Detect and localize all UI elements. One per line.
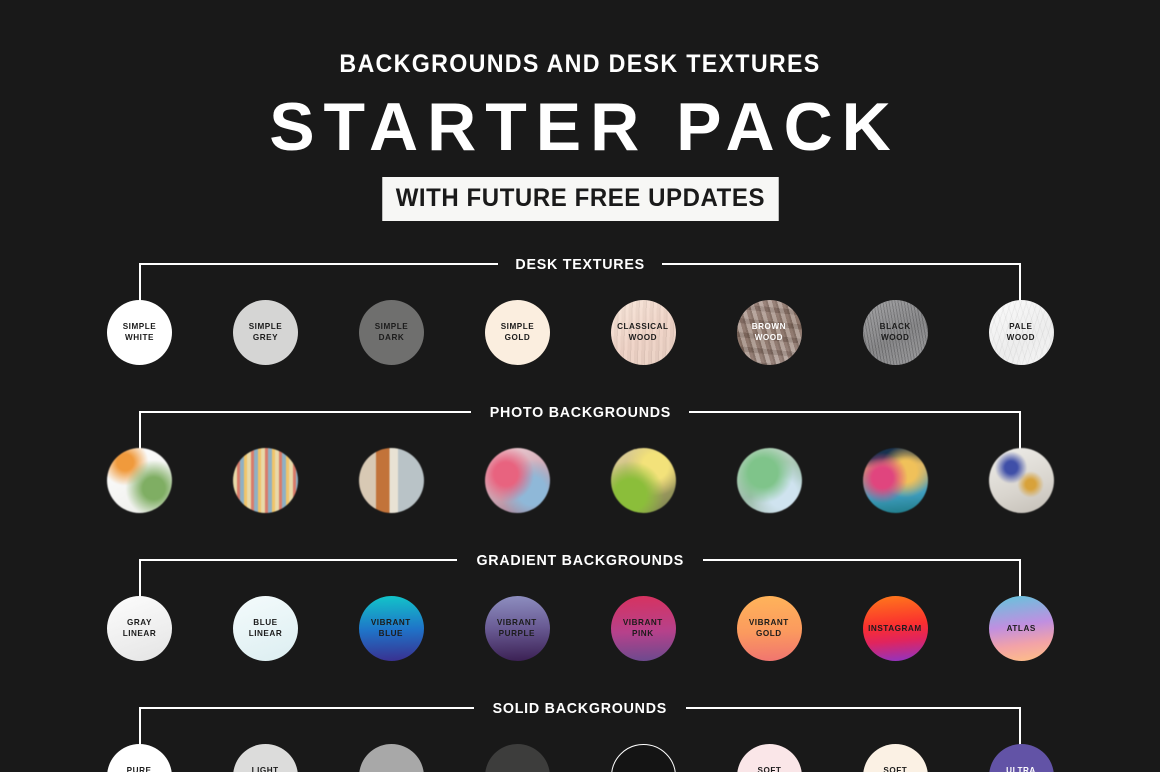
swatch-photo-7[interactable] xyxy=(863,448,928,513)
swatch-vibrant-gold[interactable]: VIBRANT GOLD xyxy=(737,596,802,661)
swatch-pale-wood[interactable]: PALE WOOD xyxy=(989,300,1054,365)
swatch-row: GRAY LINEARBLUE LINEARVIBRANT BLUEVIBRAN… xyxy=(0,595,1160,661)
swatch-cell: BLUE LINEAR xyxy=(202,595,328,661)
swatch-label: SOFT PINK xyxy=(757,765,781,772)
swatch-brown-wood[interactable]: BROWN WOOD xyxy=(737,300,802,365)
swatch-cell xyxy=(706,447,832,513)
swatch-cell xyxy=(958,447,1084,513)
swatch-cell: BLACK WOOD xyxy=(832,299,958,365)
swatch-label: BLACK WOOD xyxy=(879,321,910,342)
section-rule: DESK TEXTURES xyxy=(0,255,1160,273)
swatch-cell: LIGHT GRAY xyxy=(202,743,328,772)
section-label: GRADIENT BACKGROUNDS xyxy=(476,553,684,568)
swatch-cell xyxy=(580,447,706,513)
connector-line-left xyxy=(139,411,471,413)
swatch-vibrant-purple[interactable]: VIBRANT PURPLE xyxy=(485,596,550,661)
swatch-cell: ATLAS xyxy=(958,595,1084,661)
swatch-cell: PALE WOOD xyxy=(958,299,1084,365)
section-photo-backgrounds: PHOTO BACKGROUNDS xyxy=(0,403,1160,513)
connector-line-right xyxy=(703,559,1021,561)
swatch-dark[interactable]: DARK xyxy=(485,744,550,772)
section-label: DESK TEXTURES xyxy=(515,257,644,272)
connector-line-right xyxy=(689,411,1021,413)
swatch-label: PURE WHITE xyxy=(125,765,154,772)
swatch-cell: SIMPLE WHITE xyxy=(76,299,202,365)
swatch-cell: VIBRANT PINK xyxy=(580,595,706,661)
swatch-label: BROWN WOOD xyxy=(752,321,786,342)
swatch-grey[interactable]: GREY xyxy=(359,744,424,772)
swatch-photo-4[interactable] xyxy=(485,448,550,513)
swatch-cell: BROWN WOOD xyxy=(706,299,832,365)
swatch-cell: VIBRANT PURPLE xyxy=(454,595,580,661)
swatch-black[interactable]: BLACK xyxy=(611,744,676,772)
swatch-soft-pink[interactable]: SOFT PINK xyxy=(737,744,802,772)
swatch-cell: DARK xyxy=(454,743,580,772)
badge-wrapper: WITH FUTURE FREE UPDATES xyxy=(0,177,1160,221)
swatch-label: VIBRANT GOLD xyxy=(749,617,789,638)
swatch-label: BLUE LINEAR xyxy=(248,617,282,638)
swatch-photo-2[interactable] xyxy=(233,448,298,513)
swatch-light-gray[interactable]: LIGHT GRAY xyxy=(233,744,298,772)
connector-line-left xyxy=(139,559,457,561)
swatch-cell: GRAY LINEAR xyxy=(76,595,202,661)
section-label: PHOTO BACKGROUNDS xyxy=(489,405,670,420)
swatch-simple-dark[interactable]: SIMPLE DARK xyxy=(359,300,424,365)
swatch-label: VIBRANT BLUE xyxy=(371,617,411,638)
swatch-simple-gold[interactable]: SIMPLE GOLD xyxy=(485,300,550,365)
swatch-label: GRAY LINEAR xyxy=(122,617,156,638)
swatch-soft-gold[interactable]: SOFT GOLD xyxy=(863,744,928,772)
swatch-cell: INSTAGRAM xyxy=(832,595,958,661)
section-solid-backgrounds: SOLID BACKGROUNDSPURE WHITELIGHT GRAYGRE… xyxy=(0,699,1160,772)
connector-line-left xyxy=(139,263,498,265)
swatch-photo-8[interactable] xyxy=(989,448,1054,513)
swatch-label: SIMPLE DARK xyxy=(374,321,408,342)
eyebrow-text: BACKGROUNDS AND DESK TEXTURES xyxy=(41,52,1120,77)
swatch-label: ULTRA VIOLET xyxy=(1005,765,1038,772)
sections-container: DESK TEXTURESSIMPLE WHITESIMPLE GREYSIMP… xyxy=(0,255,1160,772)
page-title: STARTER PACK xyxy=(0,93,1160,161)
connector-line-left xyxy=(139,707,474,709)
swatch-cell: PURE WHITE xyxy=(76,743,202,772)
swatch-row: PURE WHITELIGHT GRAYGREYDARKBLACKSOFT PI… xyxy=(0,743,1160,772)
swatch-label: SOFT GOLD xyxy=(882,765,908,772)
swatch-ultra-violet[interactable]: ULTRA VIOLET xyxy=(989,744,1054,772)
swatch-cell: ULTRA VIOLET xyxy=(958,743,1084,772)
swatch-cell: SOFT GOLD xyxy=(832,743,958,772)
section-rule: GRADIENT BACKGROUNDS xyxy=(0,551,1160,569)
swatch-cell xyxy=(454,447,580,513)
swatch-photo-3[interactable] xyxy=(359,448,424,513)
swatch-label: LIGHT GRAY xyxy=(251,765,278,772)
swatch-cell: SOFT PINK xyxy=(706,743,832,772)
swatch-cell: SIMPLE GOLD xyxy=(454,299,580,365)
connector-line-right xyxy=(662,263,1021,265)
updates-badge: WITH FUTURE FREE UPDATES xyxy=(382,177,778,221)
swatch-label: VIBRANT PINK xyxy=(623,617,663,638)
swatch-photo-1[interactable] xyxy=(107,448,172,513)
swatch-label: SIMPLE GOLD xyxy=(500,321,534,342)
swatch-cell xyxy=(328,447,454,513)
swatch-photo-5[interactable] xyxy=(611,448,676,513)
swatch-cell xyxy=(832,447,958,513)
swatch-vibrant-blue[interactable]: VIBRANT BLUE xyxy=(359,596,424,661)
swatch-label: ATLAS xyxy=(1006,623,1035,634)
swatch-atlas[interactable]: ATLAS xyxy=(989,596,1054,661)
section-gradient-backgrounds: GRADIENT BACKGROUNDSGRAY LINEARBLUE LINE… xyxy=(0,551,1160,661)
swatch-cell xyxy=(202,447,328,513)
swatch-vibrant-pink[interactable]: VIBRANT PINK xyxy=(611,596,676,661)
connector-line-right xyxy=(686,707,1021,709)
swatch-label: PALE WOOD xyxy=(1007,321,1035,342)
swatch-pure-white[interactable]: PURE WHITE xyxy=(107,744,172,772)
section-desk-textures: DESK TEXTURESSIMPLE WHITESIMPLE GREYSIMP… xyxy=(0,255,1160,365)
swatch-cell: CLASSICAL WOOD xyxy=(580,299,706,365)
swatch-row: SIMPLE WHITESIMPLE GREYSIMPLE DARKSIMPLE… xyxy=(0,299,1160,365)
swatch-cell: SIMPLE GREY xyxy=(202,299,328,365)
poster-canvas: BACKGROUNDS AND DESK TEXTURES STARTER PA… xyxy=(0,0,1160,772)
swatch-instagram[interactable]: INSTAGRAM xyxy=(863,596,928,661)
swatch-label: CLASSICAL WOOD xyxy=(617,321,668,342)
swatch-simple-white[interactable]: SIMPLE WHITE xyxy=(107,300,172,365)
section-label: SOLID BACKGROUNDS xyxy=(493,701,667,716)
swatch-cell xyxy=(76,447,202,513)
swatch-cell: SIMPLE DARK xyxy=(328,299,454,365)
poster-header: BACKGROUNDS AND DESK TEXTURES STARTER PA… xyxy=(0,0,1160,221)
section-rule: PHOTO BACKGROUNDS xyxy=(0,403,1160,421)
swatch-classical-wood[interactable]: CLASSICAL WOOD xyxy=(611,300,676,365)
swatch-cell: GREY xyxy=(328,743,454,772)
swatch-cell: VIBRANT GOLD xyxy=(706,595,832,661)
swatch-label: INSTAGRAM xyxy=(868,623,922,634)
swatch-label: SIMPLE GREY xyxy=(248,321,282,342)
swatch-photo-6[interactable] xyxy=(737,448,802,513)
swatch-black-wood[interactable]: BLACK WOOD xyxy=(863,300,928,365)
swatch-cell: BLACK xyxy=(580,743,706,772)
swatch-blue-linear[interactable]: BLUE LINEAR xyxy=(233,596,298,661)
swatch-cell: VIBRANT BLUE xyxy=(328,595,454,661)
swatch-label: VIBRANT PURPLE xyxy=(497,617,537,638)
swatch-gray-linear[interactable]: GRAY LINEAR xyxy=(107,596,172,661)
swatch-label: SIMPLE WHITE xyxy=(122,321,156,342)
swatch-row xyxy=(0,447,1160,513)
section-rule: SOLID BACKGROUNDS xyxy=(0,699,1160,717)
swatch-simple-grey[interactable]: SIMPLE GREY xyxy=(233,300,298,365)
